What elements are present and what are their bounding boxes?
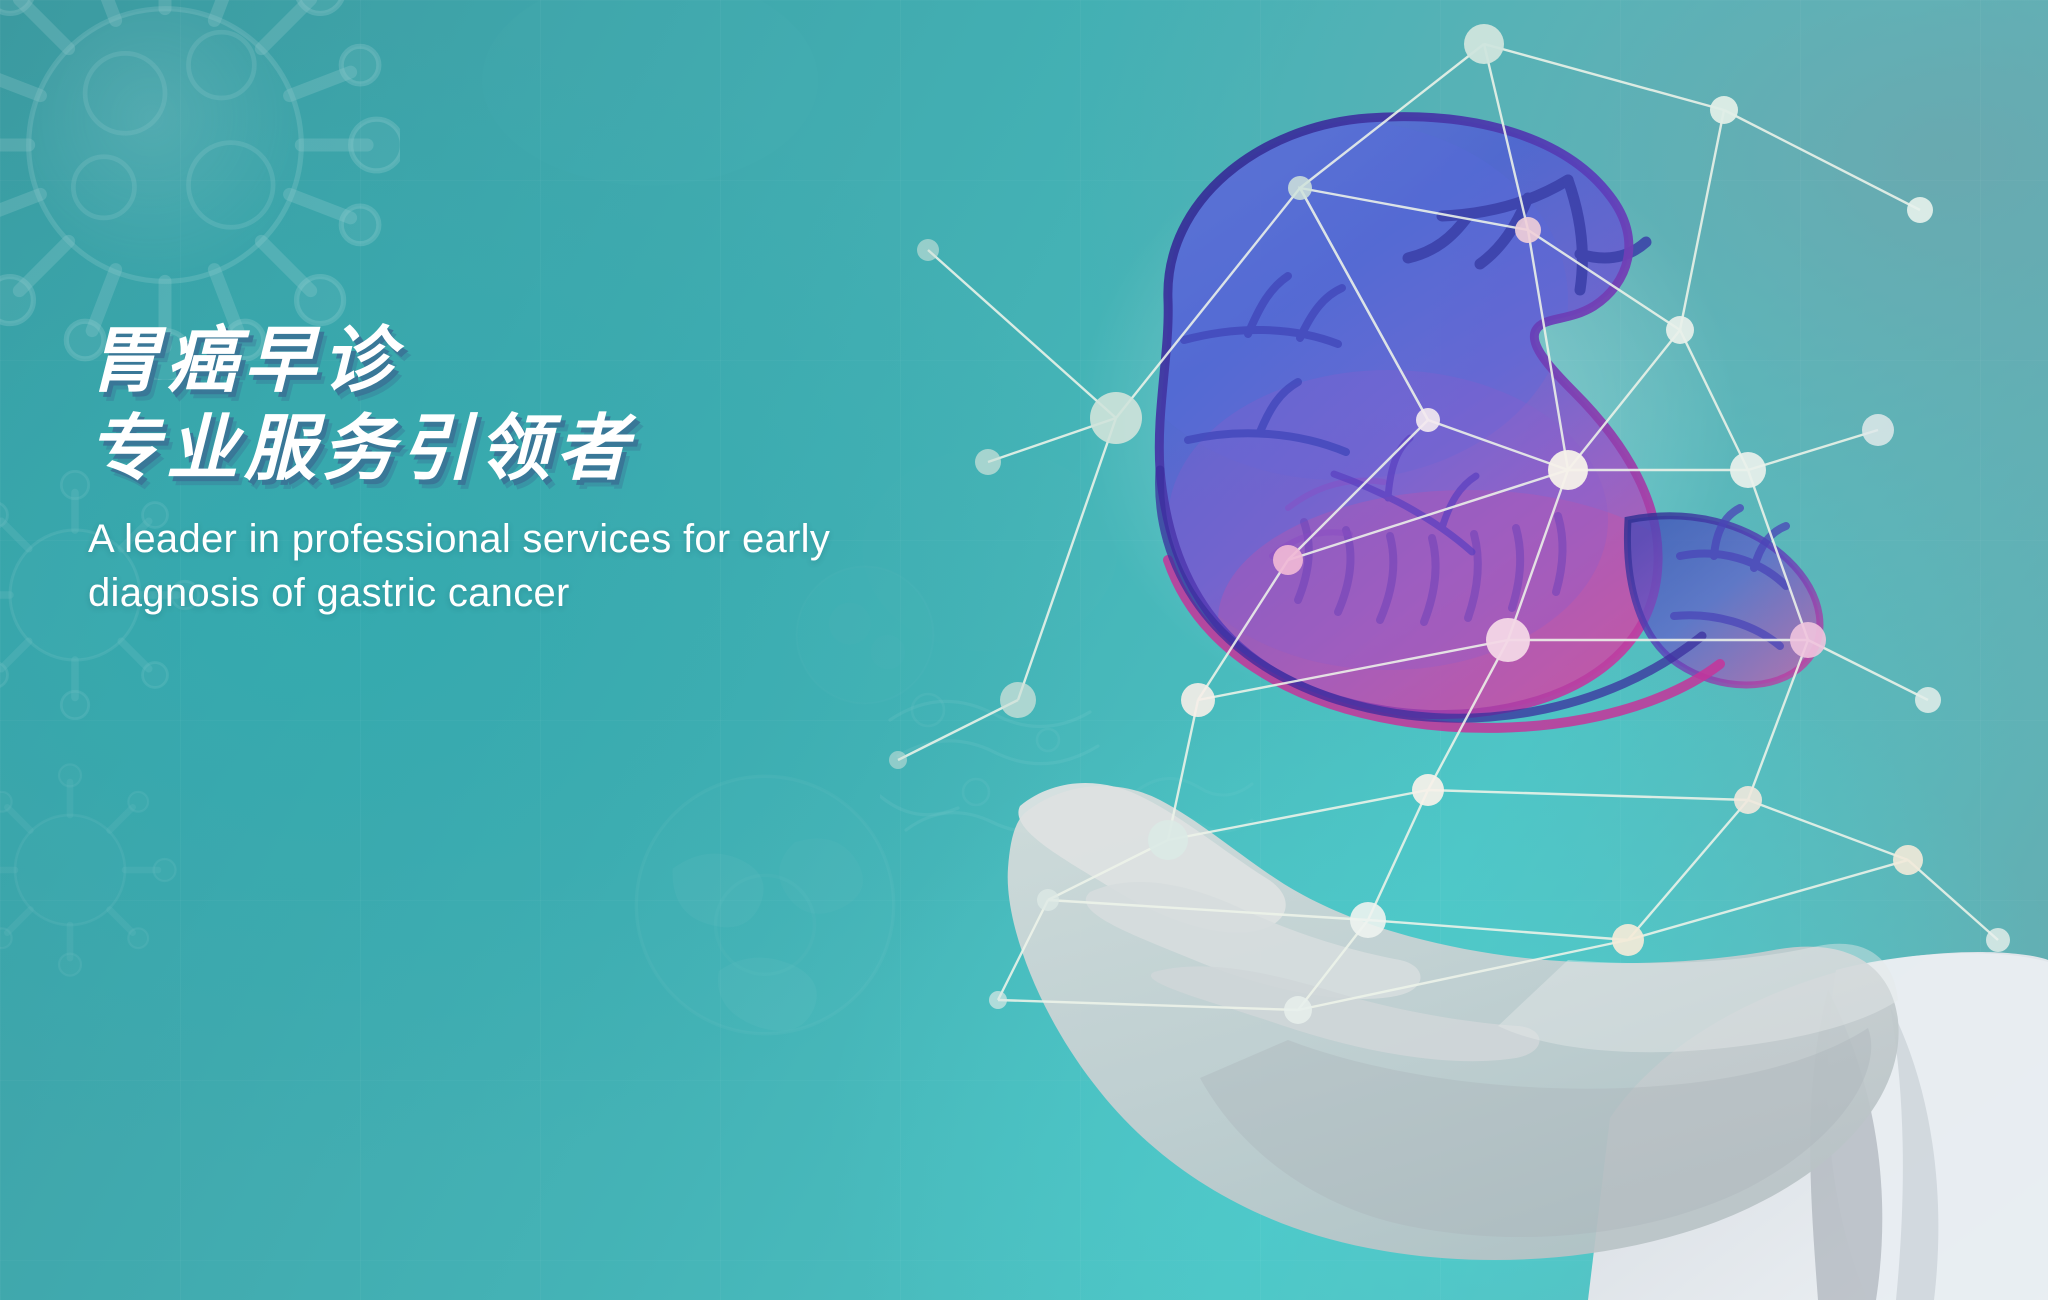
network-node: [1486, 618, 1530, 662]
network-node: [1090, 392, 1142, 444]
network-node: [1986, 928, 2010, 952]
network-node: [1273, 545, 1303, 575]
hero-banner: 胃癌早诊 专业服务引领者 A leader in professional se…: [0, 0, 2048, 1300]
cell-icon: [600, 740, 930, 1070]
network-node: [1037, 889, 1059, 911]
network-node: [1790, 622, 1826, 658]
network-node: [1612, 924, 1644, 956]
network-node: [1548, 450, 1588, 490]
network-node: [1515, 217, 1541, 243]
network-overlay: [889, 24, 2010, 1024]
page-title-zh-line-2: 专业服务引领者: [88, 406, 1028, 490]
subtitle-en: A leader in professional services for ea…: [88, 512, 918, 620]
network-node: [1666, 316, 1694, 344]
network-node: [1734, 786, 1762, 814]
network-node: [1000, 682, 1036, 718]
network-node: [1730, 452, 1766, 488]
virus-icon-tiny: [0, 760, 180, 980]
network-node: [1464, 24, 1504, 64]
network-node: [1416, 408, 1440, 432]
network-node: [1915, 687, 1941, 713]
dna-squiggle-icon-small: [1130, 760, 1260, 870]
network-node: [1350, 902, 1386, 938]
network-node: [1284, 996, 1312, 1024]
network-node: [989, 991, 1007, 1009]
network-node: [917, 239, 939, 261]
stomach-organ: [1108, 117, 1820, 750]
stomach-in-hand-illustration: [868, 0, 2048, 1300]
network-node: [1907, 197, 1933, 223]
network-node: [1181, 683, 1215, 717]
lab-coat-sleeve: [1588, 952, 2048, 1300]
network-node: [1893, 845, 1923, 875]
network-node: [1710, 96, 1738, 124]
dna-squiggle-icon: [880, 680, 1180, 910]
network-node: [1148, 820, 1188, 860]
page-title-zh-line-1: 胃癌早诊: [88, 318, 1028, 402]
hero-copy: 胃癌早诊 专业服务引领者 A leader in professional se…: [88, 318, 1028, 620]
open-hand: [1008, 783, 1899, 1260]
network-node: [1412, 774, 1444, 806]
background-grid-overlay: [0, 0, 2048, 1300]
blurred-blob: [470, 0, 830, 200]
network-node: [1862, 414, 1894, 446]
network-node: [1288, 176, 1312, 200]
network-node: [889, 751, 907, 769]
